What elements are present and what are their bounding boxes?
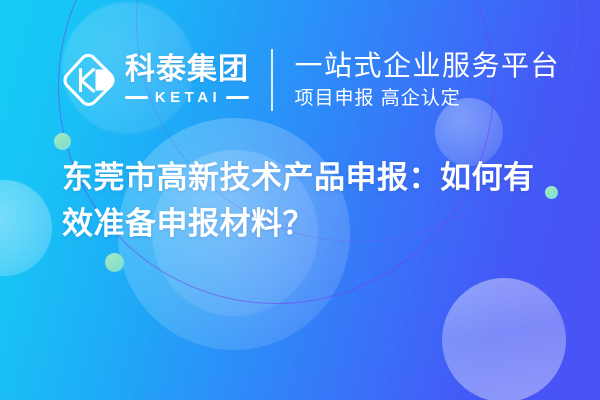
brand-name-en: KETAI bbox=[155, 90, 221, 105]
banner-headline: 东莞市高新技术产品申报：如何有效准备申报材料？ bbox=[62, 155, 554, 246]
brand-name-cn: 科泰集团 bbox=[125, 55, 249, 85]
header-divider bbox=[271, 49, 273, 111]
banner-header: 科泰集团 KETAI 一站式企业服务平台 项目申报 高企认定 bbox=[0, 40, 600, 120]
tagline-main: 一站式企业服务平台 bbox=[295, 50, 561, 81]
wordmark-rule-right-icon bbox=[226, 96, 249, 99]
brand-logo: 科泰集团 KETAI bbox=[62, 52, 249, 108]
left-edge-bubble-circle bbox=[0, 180, 52, 276]
brand-tagline: 一站式企业服务平台 项目申报 高企认定 bbox=[295, 50, 561, 110]
tagline-sub: 项目申报 高企认定 bbox=[295, 88, 561, 110]
kd-monogram-diamond-icon bbox=[62, 52, 116, 108]
green-dot-left bbox=[54, 133, 71, 150]
wordmark-rule-left-icon bbox=[125, 96, 148, 99]
green-dot-lower-left bbox=[105, 253, 124, 272]
promo-banner: 科泰集团 KETAI 一站式企业服务平台 项目申报 高企认定 东莞市高新技术产品… bbox=[0, 0, 600, 400]
brand-wordmark: 科泰集团 KETAI bbox=[125, 55, 249, 105]
brand-name-en-row: KETAI bbox=[125, 90, 249, 105]
bottom-right-bubble-circle bbox=[442, 278, 566, 400]
